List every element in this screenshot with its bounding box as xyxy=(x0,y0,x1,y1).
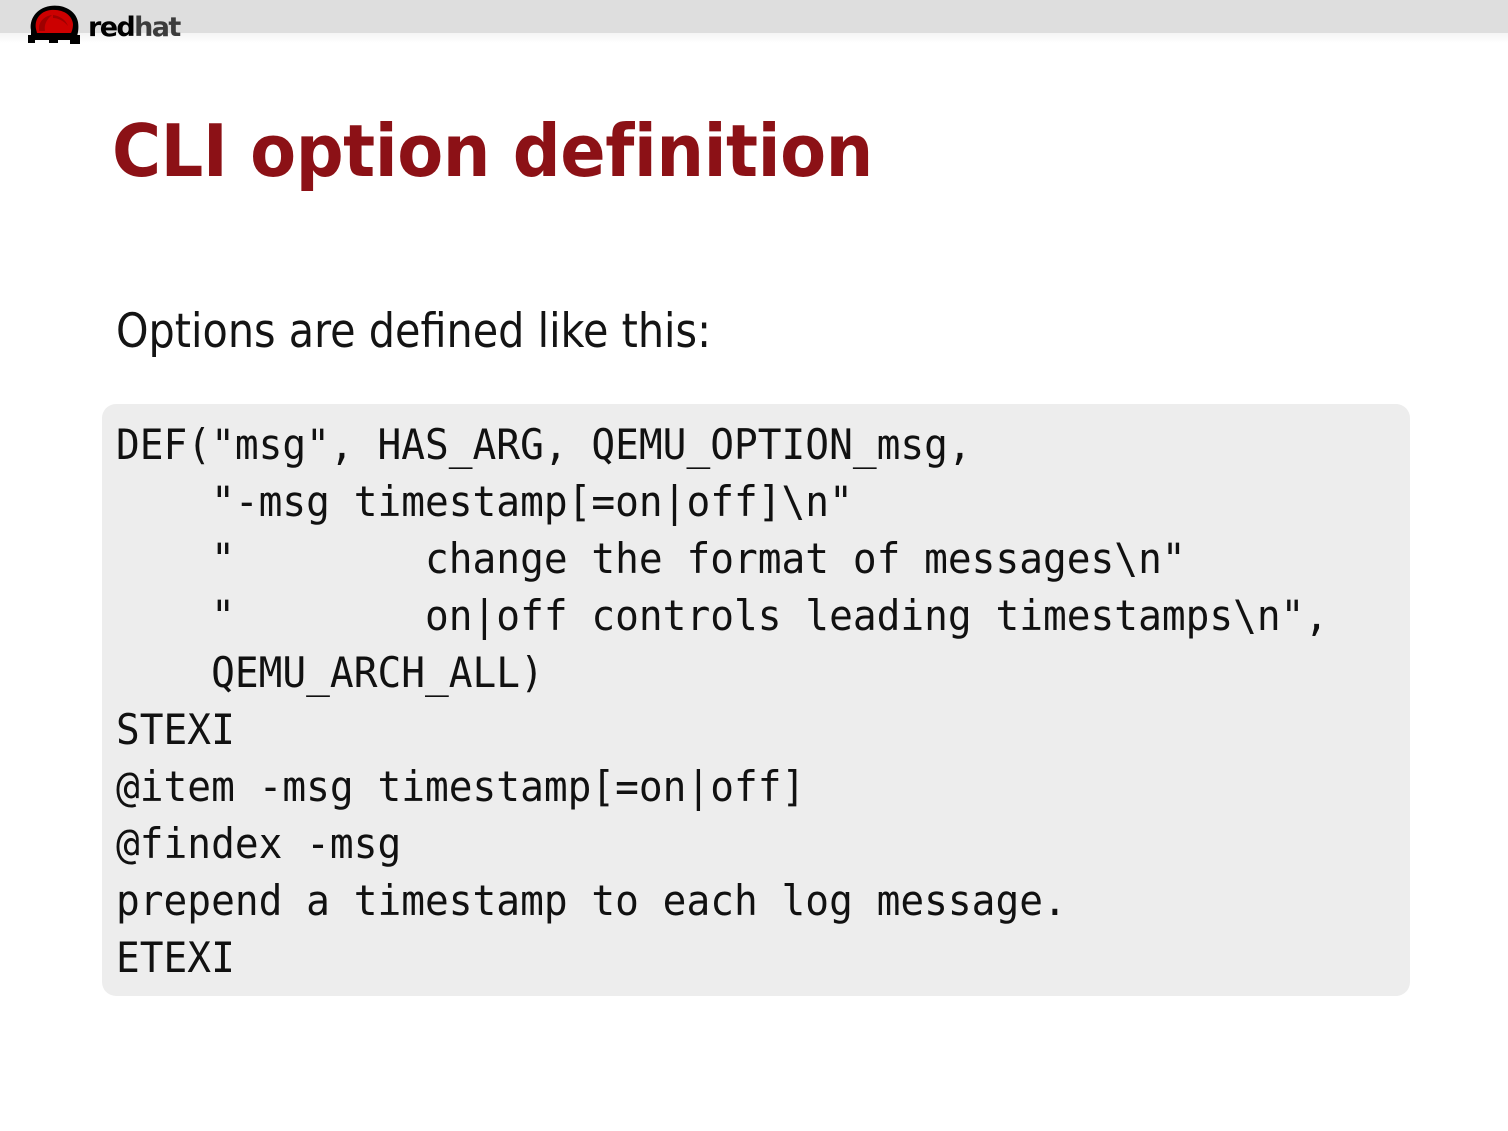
code-line: DEF("msg", HAS_ARG, QEMU_OPTION_msg, xyxy=(116,416,1332,473)
redhat-logo: redhat xyxy=(24,2,224,48)
code-line: ETEXI xyxy=(116,929,1332,986)
code-line: @findex -msg xyxy=(116,815,1332,872)
code-line: "-msg timestamp[=on|off]\n" xyxy=(116,473,1332,530)
slide-body-text: Options are defined like this: xyxy=(116,306,711,358)
code-line: " change the format of messages\n" xyxy=(116,530,1332,587)
code-block: DEF("msg", HAS_ARG, QEMU_OPTION_msg, "-m… xyxy=(102,404,1410,996)
header-band-fade xyxy=(0,33,1508,43)
page-title: CLI option definition xyxy=(112,114,873,190)
header-band xyxy=(0,0,1508,33)
code-line: " on|off controls leading timestamps\n", xyxy=(116,587,1332,644)
code-line: QEMU_ARCH_ALL) xyxy=(116,644,1332,701)
code-line: prepend a timestamp to each log message. xyxy=(116,872,1332,929)
wordmark-red: red xyxy=(88,12,134,43)
shadowman-icon xyxy=(24,2,86,46)
code-line: @item -msg timestamp[=on|off] xyxy=(116,758,1332,815)
wordmark-hat: hat xyxy=(134,12,180,43)
code-line: STEXI xyxy=(116,701,1332,758)
redhat-wordmark: redhat xyxy=(88,14,180,41)
